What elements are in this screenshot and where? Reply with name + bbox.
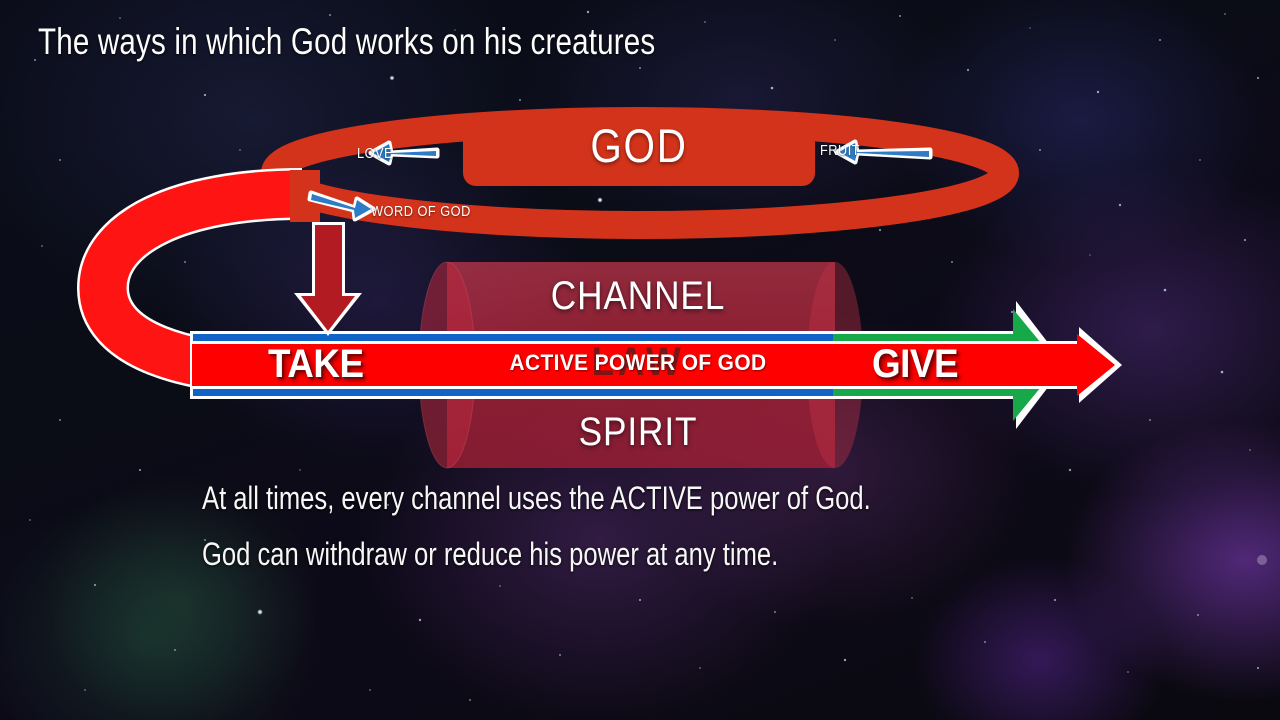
diagram-graphics bbox=[0, 0, 1280, 720]
slide-canvas: The ways in which God works on his creat… bbox=[0, 0, 1280, 720]
slide-title: The ways in which God works on his creat… bbox=[38, 21, 655, 63]
down-arrow bbox=[294, 222, 362, 336]
god-box[interactable] bbox=[463, 115, 815, 186]
caption-line-2: God can withdraw or reduce his power at … bbox=[202, 536, 778, 573]
caption-line-1: At all times, every channel uses the ACT… bbox=[202, 480, 871, 517]
